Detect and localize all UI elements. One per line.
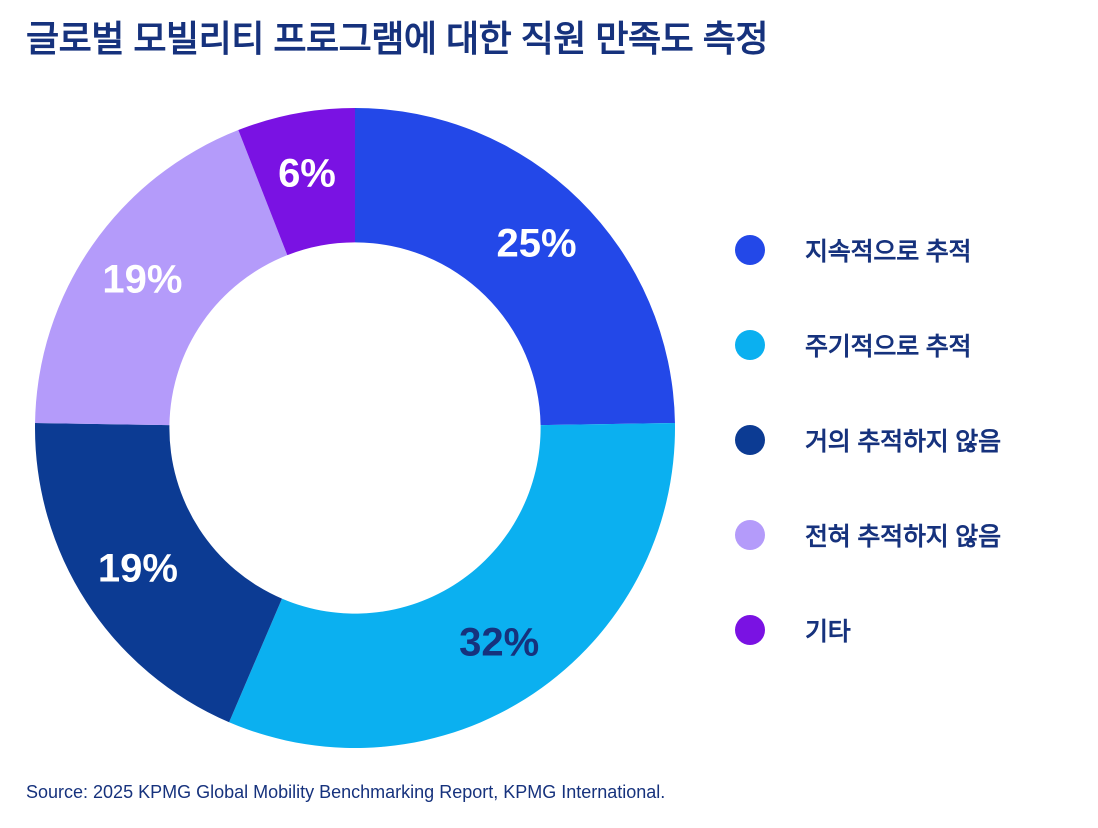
donut-slice[interactable] [229, 423, 675, 748]
source-note: Source: 2025 KPMG Global Mobility Benchm… [26, 782, 665, 803]
legend-swatch-icon [735, 235, 765, 265]
legend-item[interactable]: 기타 [735, 582, 1085, 677]
legend-item[interactable]: 지속적으로 추적 [735, 202, 1085, 297]
legend-swatch-icon [735, 520, 765, 550]
legend-item-label: 주기적으로 추적 [805, 327, 971, 363]
legend-item-label: 거의 추적하지 않음 [805, 422, 1001, 458]
donut-slice[interactable] [35, 130, 287, 425]
legend: 지속적으로 추적주기적으로 추적거의 추적하지 않음전혀 추적하지 않음기타 [735, 202, 1085, 677]
legend-swatch-icon [735, 615, 765, 645]
legend-item-label: 전혀 추적하지 않음 [805, 517, 1001, 553]
donut-svg [35, 108, 675, 748]
donut-slice[interactable] [355, 108, 675, 425]
page-title: 글로벌 모빌리티 프로그램에 대한 직원 만족도 측정 [26, 16, 1066, 61]
legend-item-label: 기타 [805, 612, 851, 648]
legend-swatch-icon [735, 330, 765, 360]
legend-item[interactable]: 거의 추적하지 않음 [735, 392, 1085, 487]
donut-graphic: 25%32%19%19%6% [35, 108, 675, 748]
legend-item-label: 지속적으로 추적 [805, 232, 971, 268]
donut-slice[interactable] [35, 423, 282, 722]
donut-slice-group [35, 108, 675, 748]
donut-chart: 25%32%19%19%6% 지속적으로 추적주기적으로 추적거의 추적하지 않… [0, 92, 1098, 754]
legend-swatch-icon [735, 425, 765, 455]
legend-item[interactable]: 전혀 추적하지 않음 [735, 487, 1085, 582]
legend-item[interactable]: 주기적으로 추적 [735, 297, 1085, 392]
